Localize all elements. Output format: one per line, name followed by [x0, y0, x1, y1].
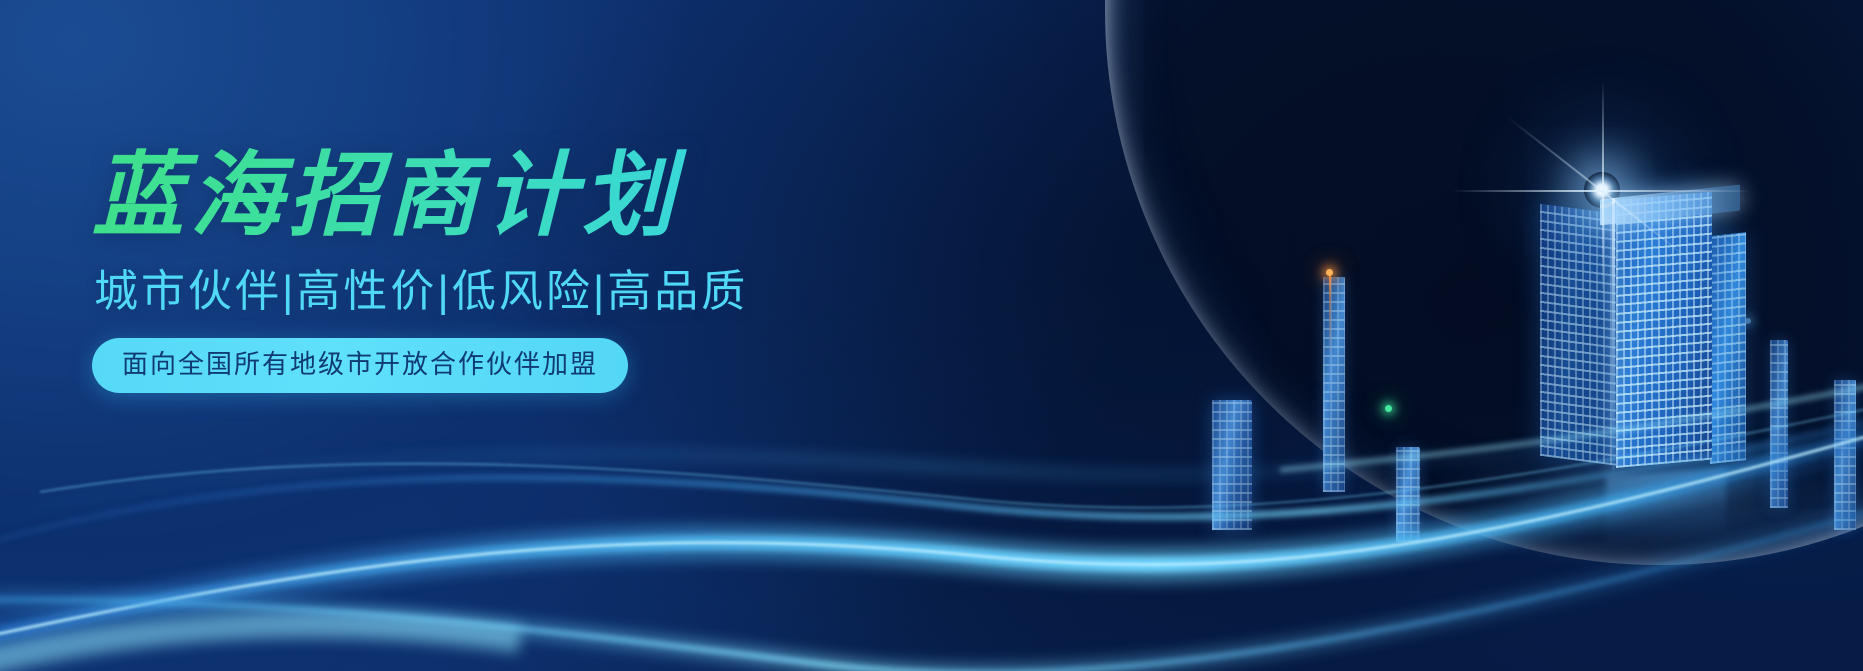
banner-subtitle: 城市伙伴|高性价|低风险|高品质: [94, 268, 852, 316]
banner-content: 蓝海招商计划 城市伙伴|高性价|低风险|高品质 面向全国所有地级市开放合作伙伴加…: [92, 148, 852, 393]
cta-pill-button[interactable]: 面向全国所有地级市开放合作伙伴加盟: [92, 338, 628, 393]
promo-banner: 蓝海招商计划 城市伙伴|高性价|低风险|高品质 面向全国所有地级市开放合作伙伴加…: [0, 0, 1863, 671]
page-title: 蓝海招商计划: [92, 148, 852, 246]
